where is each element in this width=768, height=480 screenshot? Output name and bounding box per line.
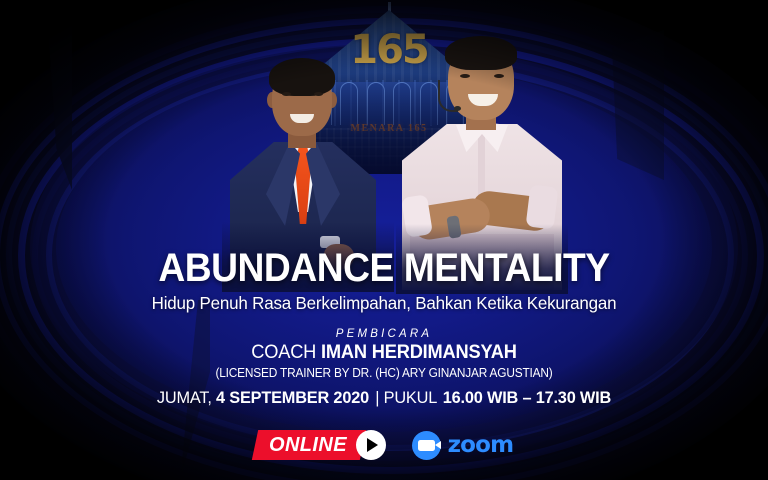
datetime-separator: | PUKUL (369, 388, 443, 407)
video-camera-icon (412, 431, 441, 460)
platform-badges: ONLINE zoom (0, 430, 768, 460)
play-icon[interactable] (356, 430, 386, 460)
event-day: JUMAT, (157, 388, 216, 407)
online-label: ONLINE (269, 435, 347, 455)
poster-text-block: ABUNDANCE MENTALITY Hidup Penuh Rasa Ber… (0, 246, 768, 409)
zoom-badge[interactable]: zoom (412, 431, 514, 460)
speaker-name: IMAN HERDIMANSYAH (321, 342, 517, 363)
event-datetime: JUMAT, 4 SEPTEMBER 2020 | PUKUL 16.00 WI… (15, 387, 752, 409)
online-tag: ONLINE (251, 430, 365, 460)
event-time: 16.00 WIB – 17.30 WIB (443, 388, 611, 407)
poster-subtitle: Hidup Penuh Rasa Berkelimpahan, Bahkan K… (12, 292, 757, 314)
online-badge[interactable]: ONLINE (255, 430, 386, 460)
camera-glyph (418, 440, 435, 451)
zoom-label: zoom (448, 432, 514, 458)
speaker-name-line: COACH IMAN HERDIMANSYAH (15, 342, 752, 364)
play-triangle (367, 438, 378, 452)
speaker-prefix: COACH (251, 342, 321, 363)
speaker-credential: (LICENSED TRAINER BY DR. (HC) ARY GINANJ… (19, 365, 749, 381)
speaker-section-label: PEMBICARA (0, 328, 768, 340)
page-title: ABUNDANCE MENTALITY (27, 246, 741, 290)
webinar-poster: 165 MENARA 165 (0, 0, 768, 480)
event-date: 4 SEPTEMBER 2020 (216, 388, 369, 407)
